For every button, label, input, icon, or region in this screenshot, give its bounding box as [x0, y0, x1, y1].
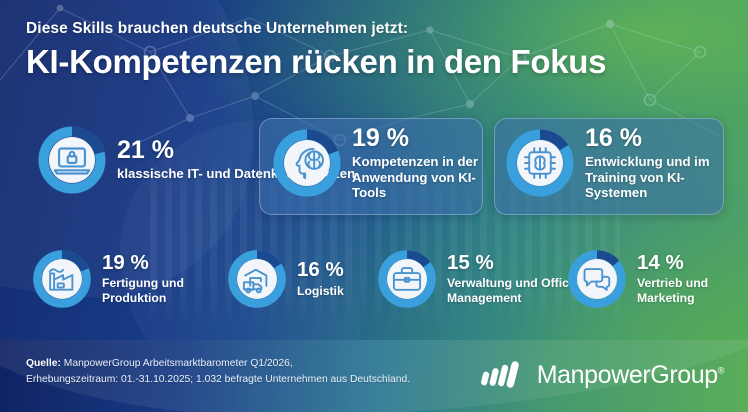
stat-ai-tool-skills: 19 % Kompetenzen in der Anwendung von KI… [273, 126, 492, 201]
icon-badge [237, 259, 277, 299]
factory-icon [42, 250, 82, 308]
stat-text: 14 % Vertrieb und Marketing [637, 253, 747, 305]
stat-manufacturing: 19 % Fertigung und Produktion [33, 250, 212, 308]
icon-badge [517, 140, 563, 186]
source-label: Quelle: [26, 358, 61, 369]
stat-text: 19 % Fertigung und Produktion [102, 253, 212, 305]
infographic-canvas: Diese Skills brauchen deutsche Unternehm… [0, 0, 748, 412]
progress-ring [33, 250, 91, 308]
stat-description: Kompetenzen in der Anwendung von KI-Tool… [352, 154, 492, 201]
stat-percent: 16 % [297, 260, 344, 281]
stat-percent: 19 % [102, 253, 212, 274]
footer: Quelle: ManpowerGroup Arbeitsmarktbarome… [0, 340, 748, 412]
stat-percent: 16 % [585, 126, 730, 151]
page-title: KI-Kompetenzen rücken in den Fokus [26, 45, 726, 80]
icon-badge [577, 259, 617, 299]
stat-ai-system-development: 16 % Entwicklung und im Training von KI-… [506, 126, 730, 201]
header: Diese Skills brauchen deutsche Unternehm… [26, 20, 726, 80]
manpowergroup-logo: ManpowerGroup® [481, 358, 724, 392]
header-kicker: Diese Skills brauchen deutsche Unternehm… [26, 20, 726, 38]
stat-percent: 14 % [637, 253, 747, 274]
icon-badge [49, 137, 95, 183]
manpowergroup-mark-icon [481, 358, 527, 392]
progress-ring [228, 250, 286, 308]
stat-sales-marketing: 14 % Vertrieb und Marketing [568, 250, 747, 308]
progress-ring [568, 250, 626, 308]
stat-description: Fertigung und Produktion [102, 276, 212, 305]
stat-text: 19 % Kompetenzen in der Anwendung von KI… [352, 126, 492, 201]
stat-description: Entwicklung und im Training von KI-Syste… [585, 154, 730, 201]
speech-bubbles-icon [577, 250, 617, 308]
brand-name: ManpowerGroup [537, 361, 718, 389]
chip-brain-icon [517, 129, 563, 197]
source-line-2: Erhebungszeitraum: 01.-31.10.2025; 1.032… [26, 374, 410, 385]
progress-ring [273, 129, 341, 197]
laptop-lock-icon [49, 126, 95, 194]
icon-badge [387, 259, 427, 299]
progress-ring [506, 129, 574, 197]
stat-logistics: 16 % Logistik [228, 250, 344, 308]
source-line-1: ManpowerGroup Arbeitsmarktbarometer Q1/2… [61, 358, 293, 369]
warehouse-truck-icon [237, 250, 277, 308]
stat-text: 16 % Entwicklung und im Training von KI-… [585, 126, 730, 201]
stat-text: 16 % Logistik [297, 260, 344, 298]
stat-description: Logistik [297, 284, 344, 298]
stat-percent: 19 % [352, 126, 492, 151]
manpowergroup-wordmark: ManpowerGroup® [537, 363, 724, 388]
icon-badge [42, 259, 82, 299]
progress-ring [378, 250, 436, 308]
progress-ring [38, 126, 106, 194]
stat-description: Vertrieb und Marketing [637, 276, 747, 305]
registered-trademark-icon: ® [718, 365, 724, 375]
source-note: Quelle: ManpowerGroup Arbeitsmarktbarome… [26, 356, 456, 387]
briefcase-icon [387, 250, 427, 308]
icon-badge [284, 140, 330, 186]
head-brain-icon [284, 129, 330, 197]
